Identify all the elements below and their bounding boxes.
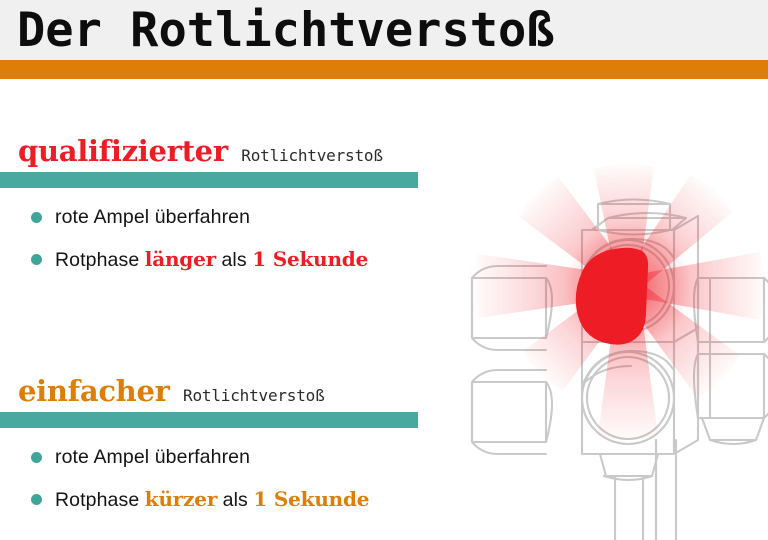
bullet-text: Rotphase kürzer als 1 Sekunde <box>55 487 369 512</box>
traffic-light-illustration <box>470 82 768 540</box>
bullet-text: rote Ampel überfahren <box>55 206 250 229</box>
section-qualifizierter: qualifizierter Rotlichtverstoß rote Ampe… <box>0 134 470 172</box>
list-item: rote Ampel überfahren <box>0 436 470 478</box>
bullet-list: rote Ampel überfahren Rotphase kürzer al… <box>0 436 470 520</box>
header-accent-rule <box>0 60 768 79</box>
section-heading: qualifizierter Rotlichtverstoß <box>0 134 470 172</box>
bullet-dot-icon <box>31 212 42 223</box>
bullet-highlight: kürzer <box>145 487 217 511</box>
section-underline-bar <box>0 172 418 188</box>
bullet-list: rote Ampel überfahren Rotphase länger al… <box>0 196 470 280</box>
bullet-text-plain: rote Ampel überfahren <box>55 446 250 468</box>
bullet-text-plain: Rotphase <box>55 489 145 511</box>
bullet-text: Rotphase länger als 1 Sekunde <box>55 247 368 272</box>
list-item: Rotphase länger als 1 Sekunde <box>0 238 470 280</box>
section-subtitle: Rotlichtverstoß <box>183 386 325 405</box>
bullet-highlight: 1 Sekunde <box>252 247 368 271</box>
page-title: Der Rotlichtverstoß <box>17 3 555 59</box>
bullet-dot-icon <box>31 452 42 463</box>
section-subtitle: Rotlichtverstoß <box>241 146 383 165</box>
section-einfacher: einfacher Rotlichtverstoß rote Ampel übe… <box>0 374 470 412</box>
list-item: Rotphase kürzer als 1 Sekunde <box>0 478 470 520</box>
bullet-text-plain: rote Ampel überfahren <box>55 206 250 228</box>
section-heading: einfacher Rotlichtverstoß <box>0 374 470 412</box>
bullet-highlight: 1 Sekunde <box>253 487 369 511</box>
bullet-highlight: länger <box>145 247 216 271</box>
slide-root: Der Rotlichtverstoß qualifizierter Rotli… <box>0 0 768 540</box>
section-underline-bar <box>0 412 418 428</box>
section-kicker: einfacher <box>18 374 170 408</box>
bullet-text-plain: als <box>217 489 253 511</box>
bullet-dot-icon <box>31 494 42 505</box>
bullet-text-plain: als <box>216 249 252 271</box>
bullet-dot-icon <box>31 254 42 265</box>
section-kicker: qualifizierter <box>18 134 228 168</box>
bullet-text: rote Ampel überfahren <box>55 446 250 469</box>
list-item: rote Ampel überfahren <box>0 196 470 238</box>
bullet-text-plain: Rotphase <box>55 249 145 271</box>
